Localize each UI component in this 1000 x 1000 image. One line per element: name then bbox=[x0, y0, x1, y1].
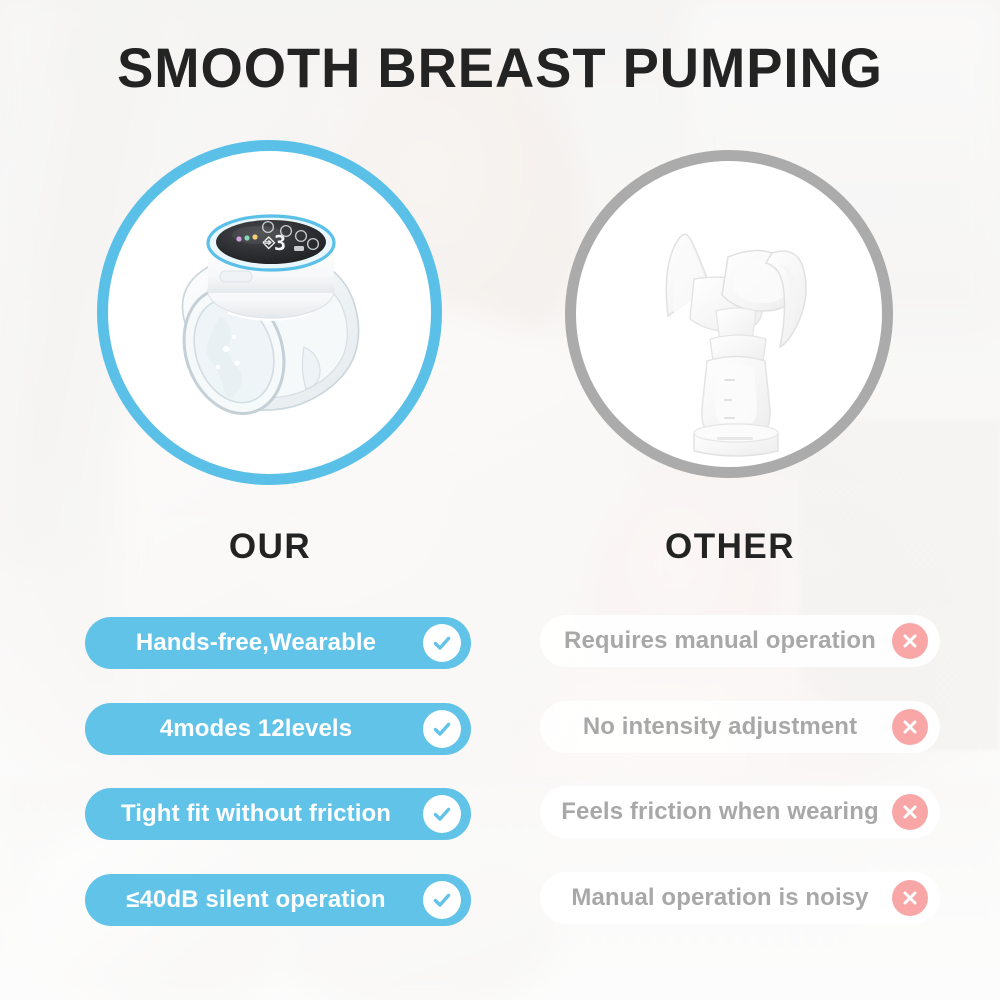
check-icon bbox=[423, 624, 461, 662]
check-icon bbox=[423, 881, 461, 919]
wearable-breast-pump-image: ⎆ 3 bbox=[108, 151, 431, 474]
con-feature-label: Manual operation is noisy bbox=[571, 884, 868, 912]
cross-icon bbox=[892, 623, 928, 659]
check-icon bbox=[423, 795, 461, 833]
con-feature-pill[interactable]: Requires manual operation bbox=[540, 615, 940, 667]
cross-icon bbox=[892, 880, 928, 916]
comparison-poster: SMOOTH BREAST PUMPING bbox=[0, 0, 1000, 1000]
pro-feature-label: 4modes 12levels bbox=[160, 715, 352, 743]
pro-feature-pill[interactable]: 4modes 12levels bbox=[85, 703, 471, 755]
page-title: SMOOTH BREAST PUMPING bbox=[15, 36, 985, 100]
pro-feature-label: Hands-free,Wearable bbox=[136, 629, 376, 657]
pro-feature-label: Tight fit without friction bbox=[121, 800, 391, 828]
cross-icon bbox=[892, 794, 928, 830]
con-feature-label: No intensity adjustment bbox=[583, 713, 857, 741]
con-feature-pill[interactable]: Feels friction when wearing bbox=[540, 786, 940, 838]
our-column-caption: OUR bbox=[140, 527, 400, 567]
other-column-caption: OTHER bbox=[610, 527, 850, 567]
con-feature-pill[interactable]: Manual operation is noisy bbox=[540, 872, 940, 924]
pro-feature-pill[interactable]: ≤40dB silent operation bbox=[85, 874, 471, 926]
pro-feature-label: ≤40dB silent operation bbox=[126, 886, 385, 914]
our-product-circle: ⎆ 3 bbox=[97, 140, 442, 485]
con-feature-pill[interactable]: No intensity adjustment bbox=[540, 701, 940, 753]
manual-breast-pump-image bbox=[576, 161, 882, 467]
cross-icon bbox=[892, 709, 928, 745]
check-icon bbox=[423, 710, 461, 748]
con-feature-label: Feels friction when wearing bbox=[561, 798, 878, 826]
con-feature-label: Requires manual operation bbox=[564, 627, 876, 655]
pro-feature-pill[interactable]: Hands-free,Wearable bbox=[85, 617, 471, 669]
pro-feature-pill[interactable]: Tight fit without friction bbox=[85, 788, 471, 840]
background-white-overlay bbox=[0, 0, 1000, 1000]
other-product-circle bbox=[565, 150, 893, 478]
